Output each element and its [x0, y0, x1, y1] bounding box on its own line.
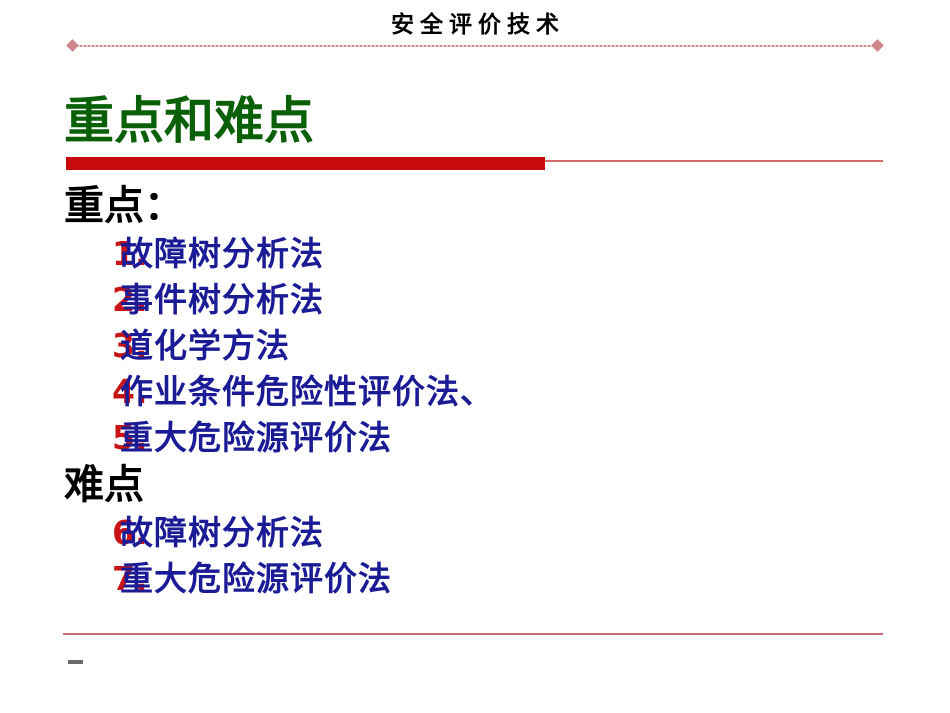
list-item-label: 重大危险源评价法	[120, 556, 392, 602]
title-accent-line	[545, 160, 883, 162]
list-item: 1. 故障树分析法	[64, 231, 894, 277]
diamond-right-icon	[871, 39, 884, 52]
section-heading-key-points: 重点：	[64, 182, 894, 231]
section-heading-difficult-points: 难点	[64, 461, 894, 510]
header-decorative-rule	[68, 44, 882, 47]
slide-canvas: 安全评价技术 重点和难点 重点： 1. 故障树分析法 2. 事件树分析法 3.	[0, 0, 950, 713]
list-item: 2. 事件树分析法	[64, 277, 894, 323]
list-item-label: 故障树分析法	[120, 510, 324, 556]
list-key-points: 1. 故障树分析法 2. 事件树分析法 3. 道化学方法 4. 作业条件危险性评…	[64, 231, 894, 461]
list-item-number: 1.	[64, 231, 120, 277]
header-rule-line	[76, 45, 874, 47]
diamond-left-icon	[66, 39, 79, 52]
slide-content: 重点： 1. 故障树分析法 2. 事件树分析法 3. 道化学方法 4. 作业条件…	[64, 182, 894, 602]
title-accent-bar	[66, 157, 545, 170]
list-item: 4. 作业条件危险性评价法、	[64, 369, 894, 415]
list-item-number: 6.	[64, 510, 120, 556]
list-item-number: 4.	[64, 369, 120, 415]
list-item-label: 道化学方法	[120, 323, 290, 369]
section-difficult-points: 难点 6. 故障树分析法 7. 重大危险源评价法	[64, 461, 894, 602]
list-item: 5. 重大危险源评价法	[64, 415, 894, 461]
list-item-number: 7.	[64, 556, 120, 602]
section-key-points: 重点： 1. 故障树分析法 2. 事件树分析法 3. 道化学方法 4. 作业条件…	[64, 182, 894, 461]
list-item-label: 事件树分析法	[120, 277, 324, 323]
list-difficult-points: 6. 故障树分析法 7. 重大危险源评价法	[64, 510, 894, 602]
list-item-label: 作业条件危险性评价法、	[120, 369, 494, 415]
page-title: 重点和难点	[64, 92, 314, 150]
list-item-number: 2.	[64, 277, 120, 323]
list-item: 3. 道化学方法	[64, 323, 894, 369]
footer-dash-mark	[68, 660, 83, 664]
list-item-label: 故障树分析法	[120, 231, 324, 277]
slide-header-title: 安全评价技术	[0, 10, 950, 40]
footer-divider	[63, 633, 883, 635]
list-item: 7. 重大危险源评价法	[64, 556, 894, 602]
list-item: 6. 故障树分析法	[64, 510, 894, 556]
list-item-label: 重大危险源评价法	[120, 415, 392, 461]
list-item-number: 5.	[64, 415, 120, 461]
list-item-number: 3.	[64, 323, 120, 369]
